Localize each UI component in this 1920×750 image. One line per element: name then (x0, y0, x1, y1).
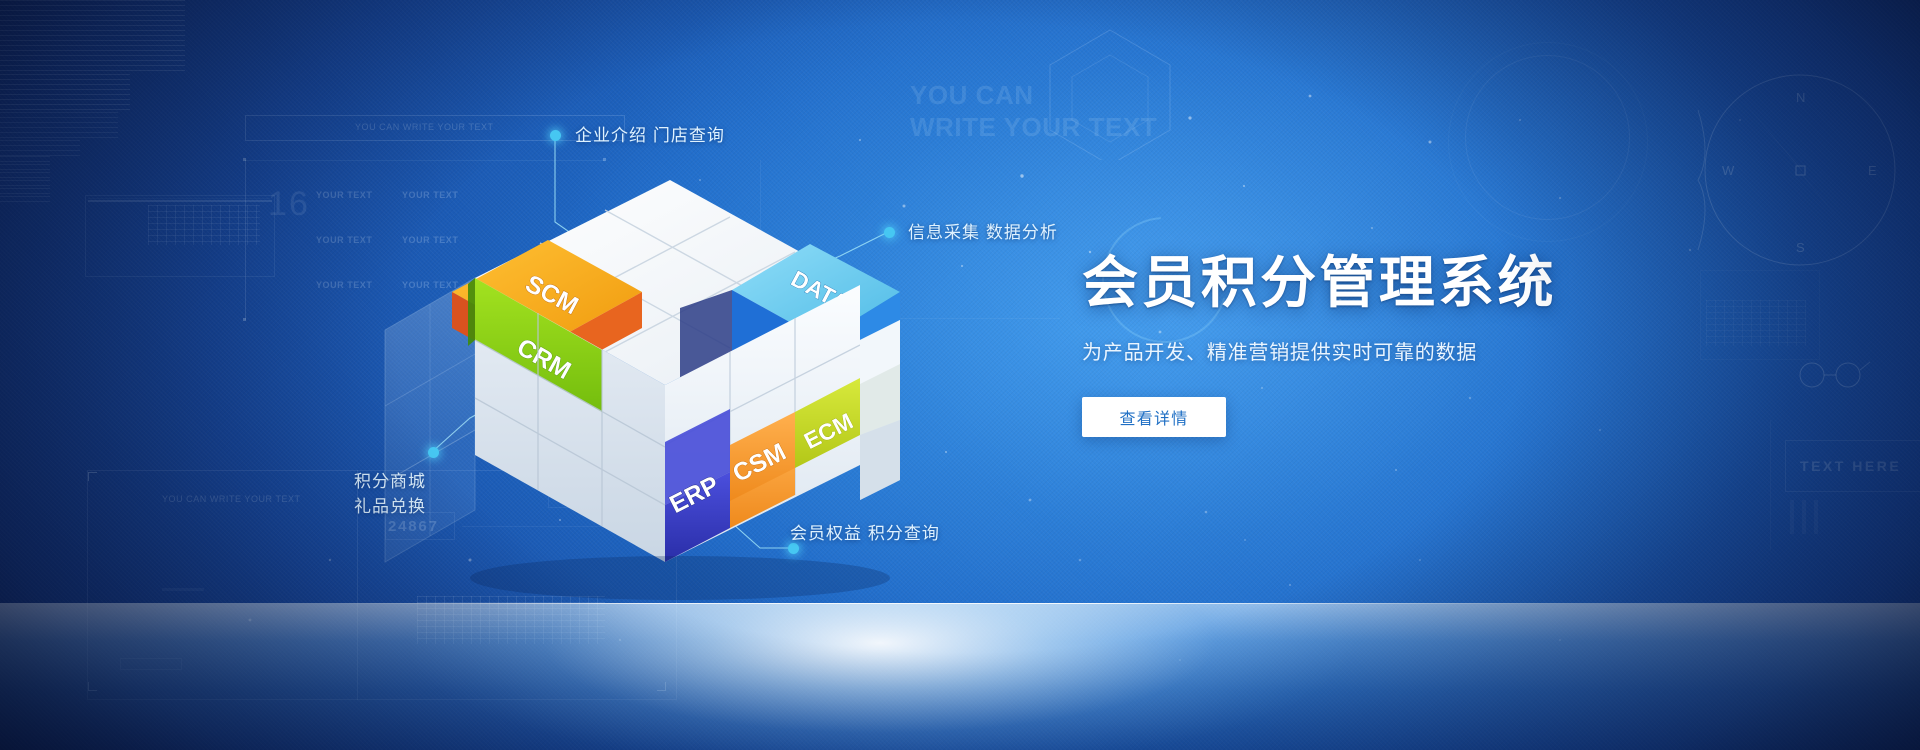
decor-panel-0 (85, 195, 275, 277)
decor-paragraph-4 (0, 140, 80, 156)
decor-ring-1 (1465, 55, 1630, 220)
decor-mini-label-2: YOUR TEXT (316, 235, 372, 245)
decor-paragraph-3 (0, 112, 118, 140)
decor-line-a (88, 198, 270, 199)
decor-mini-label-3: YOUR TEXT (316, 280, 372, 290)
decor-glasses-icon (1790, 350, 1910, 400)
decor-ring-2 (1448, 42, 1648, 242)
decor-corner-br (657, 682, 666, 691)
svg-text:W: W (1722, 163, 1735, 178)
decor-dot-3 (603, 158, 606, 161)
decor-textbox (1785, 440, 1920, 492)
decor-vline-1 (245, 160, 246, 320)
decor-mini-para-3 (0, 172, 50, 180)
hero-banner: YOU CAN WRITE YOUR TEXT 16 YOU CAN WRITE… (0, 0, 1920, 750)
decor-bar-3 (1814, 500, 1818, 534)
decor-grid-1 (148, 205, 260, 245)
decor-mini-para-1 (0, 156, 50, 164)
callout-dot-member (788, 543, 799, 554)
decor-panel-0-line (88, 200, 272, 202)
decor-grid-3 (1706, 300, 1806, 346)
decor-mini-para-2 (0, 164, 50, 172)
callout-dot-data (884, 227, 895, 238)
decor-vline-3 (1770, 420, 1771, 550)
callout-mall[interactable]: 积分商城 礼品兑换 (354, 470, 426, 519)
decor-panel-label: YOU CAN WRITE YOUR TEXT (162, 494, 301, 504)
svg-text:S: S (1796, 240, 1805, 255)
decor-dot-1 (243, 158, 246, 161)
decor-textbox-label: TEXT HERE (1800, 458, 1901, 474)
decor-bar-2 (1802, 500, 1806, 534)
page-title: 会员积分管理系统 (1082, 252, 1642, 314)
decor-number: 16 (268, 185, 310, 224)
hero-copy: 会员积分管理系统 为产品开发、精准营销提供实时可靠的数据 查看详情 (1082, 252, 1642, 437)
decor-dot-2 (243, 318, 246, 321)
decor-header-box (245, 115, 625, 141)
svg-text:E: E (1868, 163, 1877, 178)
decor-tag (120, 658, 182, 670)
decor-paragraph-1 (0, 0, 185, 74)
rubiks-cube-graphic: SCM DATA CRM (380, 180, 940, 610)
decor-paragraph-2 (0, 74, 130, 112)
decor-hexagon-icon (1020, 20, 1200, 160)
decor-mini-para-5 (0, 188, 50, 196)
decor-mini-para-4 (0, 180, 50, 188)
callout-enterprise[interactable]: 企业介绍 门店查询 (575, 121, 725, 146)
bottom-glow-band (0, 603, 1920, 750)
compass-icon: N S E W (1690, 60, 1920, 290)
callout-member[interactable]: 会员权益 积分查询 (790, 519, 940, 544)
decor-corner-bl (88, 682, 97, 691)
decor-mini-label-1: YOUR TEXT (316, 190, 372, 200)
svg-text:N: N (1796, 90, 1805, 105)
decor-underline (162, 588, 204, 591)
decor-mini-para-6 (0, 196, 50, 204)
callout-dot-mall (428, 447, 439, 458)
callout-dot-enterprise (550, 130, 561, 141)
decor-hline-1 (245, 160, 605, 161)
callout-mall-line1: 积分商城 (354, 470, 426, 495)
decor-bar-1 (1790, 500, 1794, 534)
callout-mall-line2: 礼品兑换 (354, 495, 426, 520)
decor-header-label: YOU CAN WRITE YOUR TEXT (355, 122, 494, 132)
view-details-button[interactable]: 查看详情 (1082, 397, 1226, 437)
page-subtitle: 为产品开发、精准营销提供实时可靠的数据 (1082, 336, 1642, 365)
callout-data[interactable]: 信息采集 数据分析 (908, 218, 1058, 243)
decor-corner-tl (88, 472, 97, 481)
decor-bigtext-1: YOU CAN (910, 80, 1034, 111)
